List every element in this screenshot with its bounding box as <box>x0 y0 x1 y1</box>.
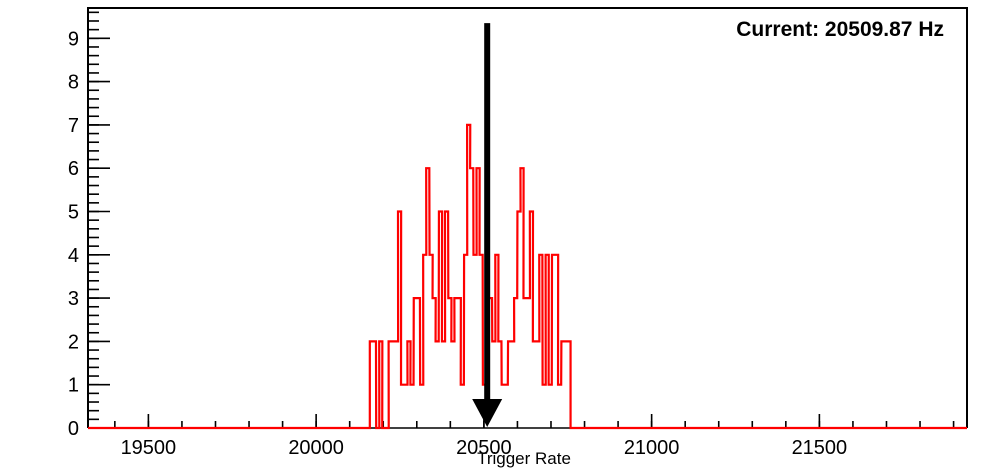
y-tick-label: 0 <box>68 418 79 440</box>
y-tick-label: 6 <box>68 158 79 180</box>
histogram-series <box>88 125 967 428</box>
x-tick-label: 21500 <box>792 437 848 459</box>
frame-border <box>88 8 967 428</box>
y-tick-label: 5 <box>68 202 79 224</box>
y-tick-label: 1 <box>68 375 79 397</box>
y-tick-label: 9 <box>68 28 79 50</box>
x-axis-title: Trigger Rate <box>477 449 571 468</box>
x-tick-label: 21000 <box>624 437 680 459</box>
x-tick-label: 19500 <box>121 437 177 459</box>
y-tick-label: 8 <box>68 72 79 94</box>
arrow-head-icon <box>472 399 502 427</box>
histogram-canvas: 0123456789 1950020000205002100021500 Tri… <box>0 0 996 472</box>
plot-frame <box>88 8 967 428</box>
y-tick-label: 7 <box>68 115 79 137</box>
y-tick-label: 3 <box>68 288 79 310</box>
x-tick-label: 20000 <box>288 437 344 459</box>
y-tick-label: 4 <box>68 245 79 267</box>
histogram-step-line <box>88 125 967 428</box>
trigger-rate-histogram: 0123456789 1950020000205002100021500 Tri… <box>0 0 996 472</box>
y-tick-label: 2 <box>68 331 79 353</box>
current-rate-label: Current: 20509.87 Hz <box>736 18 944 41</box>
